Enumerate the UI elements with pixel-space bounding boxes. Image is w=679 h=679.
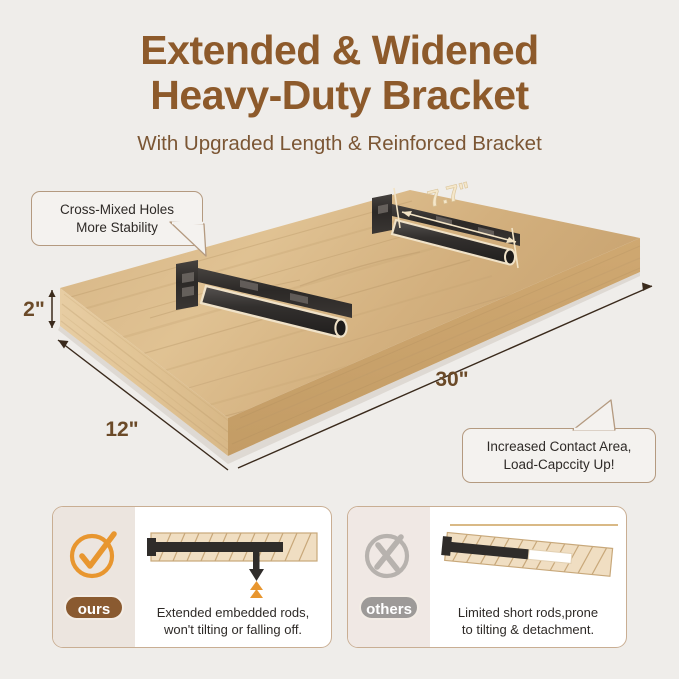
panel-ours-caption-line1: Extended embedded rods, — [141, 604, 325, 621]
panel-ours-caption: Extended embedded rods, won't tilting or… — [141, 604, 325, 638]
callout-holes-tail — [170, 222, 230, 256]
callout-contact-tail — [571, 402, 641, 432]
page-title-line2: Heavy-Duty Bracket — [0, 73, 679, 118]
comparison-panel-others: others — [347, 506, 627, 648]
page-subtitle: With Upgraded Length & Reinforced Bracke… — [0, 132, 679, 156]
panel-others-caption-line1: Limited short rods,prone — [436, 604, 620, 621]
header-block: Extended & Widened Heavy-Duty Bracket Wi… — [0, 28, 679, 156]
comparison-panel-ours: ours — [52, 506, 332, 648]
circle-x-icon — [357, 529, 421, 581]
callout-holes-line1: Cross-Mixed Holes — [43, 201, 191, 219]
callout-cross-mixed-holes: Cross-Mixed Holes More Stability — [31, 191, 203, 246]
comparison-section: ours — [0, 500, 679, 665]
callout-increased-contact-area: Increased Contact Area, Load-Capccity Up… — [462, 428, 656, 483]
callout-contact-line1: Increased Contact Area, — [474, 438, 644, 456]
panel-others-caption-line2: to tilting & detachment. — [436, 621, 620, 638]
dimension-label-length: 30" — [435, 368, 468, 391]
panel-ours-diagram — [137, 511, 331, 601]
infographic-root: Extended & Widened Heavy-Duty Bracket Wi… — [0, 0, 679, 679]
callout-contact-line2: Load-Capccity Up! — [474, 456, 644, 474]
panel-ours-caption-line2: won't tilting or falling off. — [141, 621, 325, 638]
panel-others-diagram — [432, 511, 626, 601]
badge-others: others — [359, 595, 419, 620]
circle-check-icon — [62, 529, 126, 581]
panel-others-caption: Limited short rods,prone to tilting & de… — [436, 604, 620, 638]
dimension-label-depth: 12" — [105, 418, 138, 441]
dimension-label-thickness: 2" — [23, 298, 45, 321]
dimension-thickness — [48, 290, 55, 328]
badge-ours: ours — [64, 595, 124, 620]
page-title-line1: Extended & Widened — [0, 28, 679, 73]
callout-holes-line2: More Stability — [43, 219, 191, 237]
